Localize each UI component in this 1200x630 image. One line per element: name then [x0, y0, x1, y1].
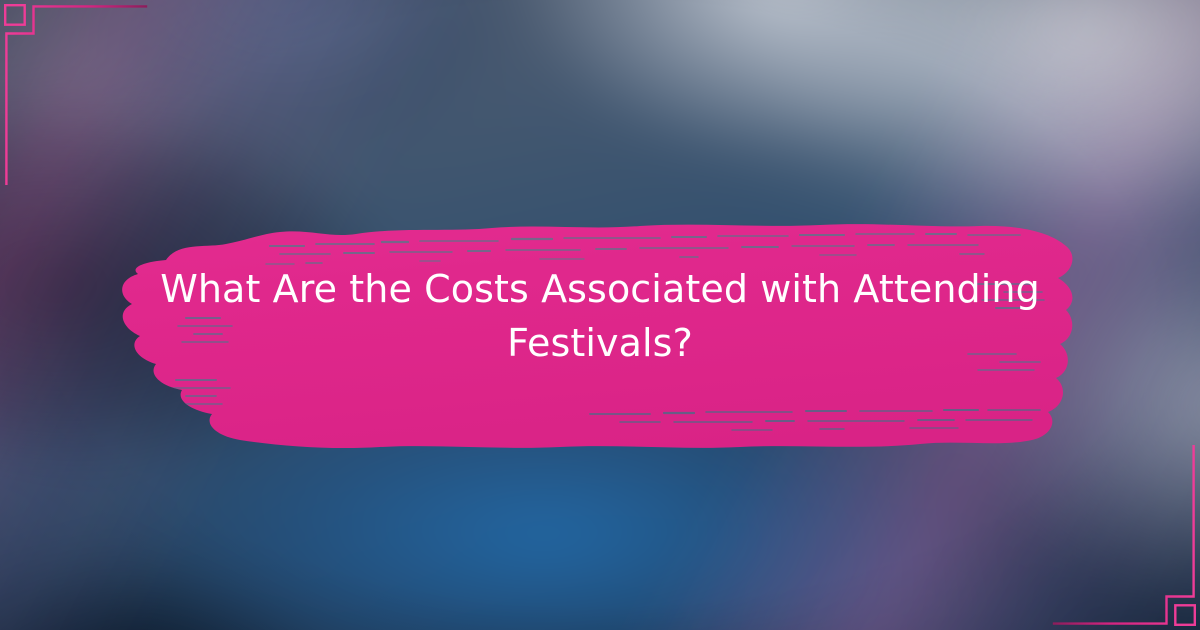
corner-bracket-top-left-icon — [0, 0, 170, 185]
page-title: What Are the Costs Associated with Atten… — [0, 262, 1200, 370]
page-title-line-1: What Are the Costs Associated with Atten… — [0, 262, 1200, 316]
page-title-line-2: Festivals? — [0, 316, 1200, 370]
corner-bracket-bottom-right-icon — [1030, 445, 1200, 630]
title-card: What Are the Costs Associated with Atten… — [0, 0, 1200, 630]
